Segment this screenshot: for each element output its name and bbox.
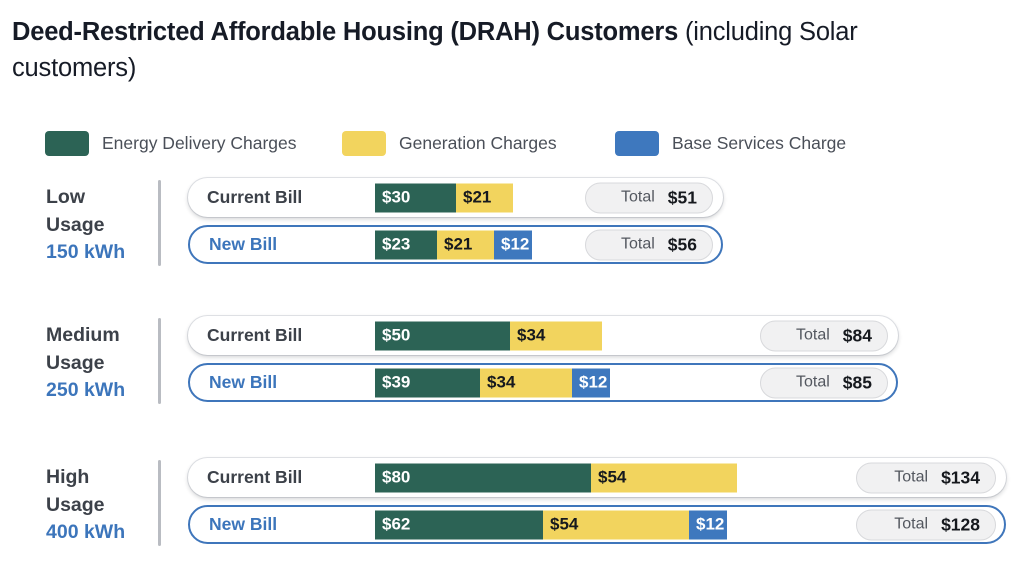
total-value-new-medium: $85 — [843, 372, 872, 393]
usage-name-high: High — [46, 464, 156, 492]
total-value-current-low: $51 — [668, 187, 697, 208]
legend-item-generation-charges: Generation Charges — [342, 131, 615, 156]
bar-segment-energy: $62 — [375, 510, 543, 539]
usage-group-label-medium: Medium Usage 250 kWh — [46, 322, 156, 405]
legend-swatch-icon-base — [615, 131, 659, 156]
bill-row-current-low[interactable]: Current Bill $30 $21 Total $51 — [188, 178, 723, 217]
stacked-bar-current-medium: $50 $34 — [375, 321, 602, 350]
total-word: Total — [621, 189, 655, 207]
bar-segment-base: $12 — [494, 230, 532, 259]
bill-row-name-current-medium: Current Bill — [207, 316, 302, 355]
total-word: Total — [894, 516, 928, 534]
bar-segment-energy: $39 — [375, 368, 480, 397]
total-value-current-high: $134 — [941, 467, 980, 488]
page-title: Deed-Restricted Affordable Housing (DRAH… — [12, 14, 942, 86]
bill-row-name-new-medium: New Bill — [209, 365, 277, 400]
total-word: Total — [796, 374, 830, 392]
usage-kwh-medium: 250 kWh — [46, 377, 156, 405]
bar-segment-generation: $34 — [510, 321, 602, 350]
bill-row-name-current-low: Current Bill — [207, 178, 302, 217]
total-pill-current-low: Total $51 — [585, 182, 713, 213]
group-divider — [158, 460, 161, 546]
total-word: Total — [621, 236, 655, 254]
bill-row-current-medium[interactable]: Current Bill $50 $34 Total $84 — [188, 316, 898, 355]
total-word: Total — [894, 469, 928, 487]
bill-row-current-high[interactable]: Current Bill $80 $54 Total $134 — [188, 458, 1006, 497]
usage-group-rows-low: Current Bill $30 $21 Total $51 New Bill … — [188, 178, 723, 272]
usage-group-label-high: High Usage 400 kWh — [46, 464, 156, 547]
stacked-bar-current-low: $30 $21 — [375, 183, 513, 212]
legend: Energy Delivery Charges Generation Charg… — [45, 131, 875, 156]
bar-segment-energy: $80 — [375, 463, 591, 492]
legend-swatch-icon-generation — [342, 131, 386, 156]
usage-name-medium: Medium — [46, 322, 156, 350]
stacked-bar-current-high: $80 $54 — [375, 463, 737, 492]
stacked-bar-new-low: $23 $21 $12 — [375, 230, 532, 259]
stacked-bar-new-medium: $39 $34 $12 — [375, 368, 610, 397]
bill-row-new-medium[interactable]: New Bill $39 $34 $12 Total $85 — [188, 363, 898, 402]
total-pill-new-low: Total $56 — [585, 229, 713, 260]
total-value-new-high: $128 — [941, 514, 980, 535]
bill-row-name-new-low: New Bill — [209, 227, 277, 262]
bar-segment-energy: $23 — [375, 230, 437, 259]
bill-row-name-current-high: Current Bill — [207, 458, 302, 497]
legend-swatch-icon-energy — [45, 131, 89, 156]
legend-item-energy-delivery-charges: Energy Delivery Charges — [45, 131, 342, 156]
bar-segment-base: $12 — [572, 368, 610, 397]
bar-segment-base: $12 — [689, 510, 727, 539]
stacked-bar-new-high: $62 $54 $12 — [375, 510, 727, 539]
total-pill-current-high: Total $134 — [856, 462, 996, 493]
group-divider — [158, 318, 161, 404]
bill-row-name-new-high: New Bill — [209, 507, 277, 542]
usage-group-label-low: Low Usage 150 kWh — [46, 184, 156, 267]
bill-row-new-low[interactable]: New Bill $23 $21 $12 Total $56 — [188, 225, 723, 264]
total-value-new-low: $56 — [668, 234, 697, 255]
page-title-strong: Deed-Restricted Affordable Housing (DRAH… — [12, 18, 678, 46]
usage-kwh-low: 150 kWh — [46, 239, 156, 267]
usage-group-rows-medium: Current Bill $50 $34 Total $84 New Bill … — [188, 316, 898, 410]
group-divider — [158, 180, 161, 266]
usage-kwh-high: 400 kWh — [46, 519, 156, 547]
legend-label-generation: Generation Charges — [399, 133, 557, 154]
bar-segment-generation: $21 — [456, 183, 513, 212]
usage-name-low: Low — [46, 184, 156, 212]
total-pill-new-high: Total $128 — [856, 509, 996, 540]
bar-segment-generation: $21 — [437, 230, 494, 259]
chart-page: Deed-Restricted Affordable Housing (DRAH… — [0, 0, 1024, 574]
usage-group-rows-high: Current Bill $80 $54 Total $134 New Bill… — [188, 458, 1006, 552]
bar-segment-generation: $34 — [480, 368, 572, 397]
usage-word-low: Usage — [46, 212, 156, 240]
usage-word-medium: Usage — [46, 350, 156, 378]
legend-label-base: Base Services Charge — [672, 133, 846, 154]
bar-segment-generation: $54 — [591, 463, 737, 492]
bar-segment-energy: $50 — [375, 321, 510, 350]
total-pill-current-medium: Total $84 — [760, 320, 888, 351]
legend-item-base-services-charge: Base Services Charge — [615, 131, 875, 156]
bar-segment-generation: $54 — [543, 510, 689, 539]
bar-segment-energy: $30 — [375, 183, 456, 212]
total-value-current-medium: $84 — [843, 325, 872, 346]
usage-word-high: Usage — [46, 492, 156, 520]
legend-label-energy: Energy Delivery Charges — [102, 133, 297, 154]
bill-row-new-high[interactable]: New Bill $62 $54 $12 Total $128 — [188, 505, 1006, 544]
total-pill-new-medium: Total $85 — [760, 367, 888, 398]
total-word: Total — [796, 327, 830, 345]
